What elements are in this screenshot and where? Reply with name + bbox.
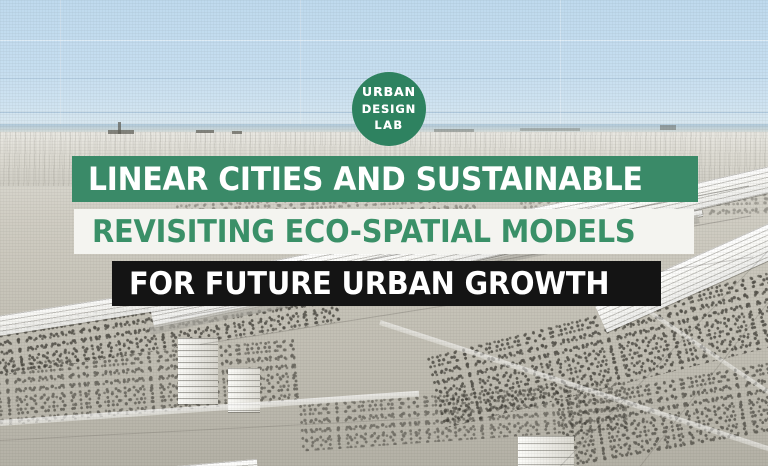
- title-band-secondary: REVISITING ECO-SPATIAL MODELS: [74, 209, 694, 254]
- article-hero-banner: URBAN DESIGN LAB LINEAR CITIES AND SUSTA…: [0, 0, 768, 466]
- title-line-2: REVISITING ECO-SPATIAL MODELS: [92, 214, 636, 250]
- title-line-3: FOR FUTURE URBAN GROWTH: [129, 266, 609, 302]
- logo-line-design: DESIGN: [362, 104, 416, 116]
- title-line-1: LINEAR CITIES AND SUSTAINABLE: [88, 160, 643, 198]
- title-band-primary: LINEAR CITIES AND SUSTAINABLE: [72, 156, 698, 202]
- logo-line-lab: LAB: [374, 120, 403, 132]
- urban-design-lab-logo[interactable]: URBAN DESIGN LAB: [352, 72, 426, 146]
- logo-line-urban: URBAN: [362, 86, 416, 99]
- title-band-tertiary: FOR FUTURE URBAN GROWTH: [112, 261, 661, 306]
